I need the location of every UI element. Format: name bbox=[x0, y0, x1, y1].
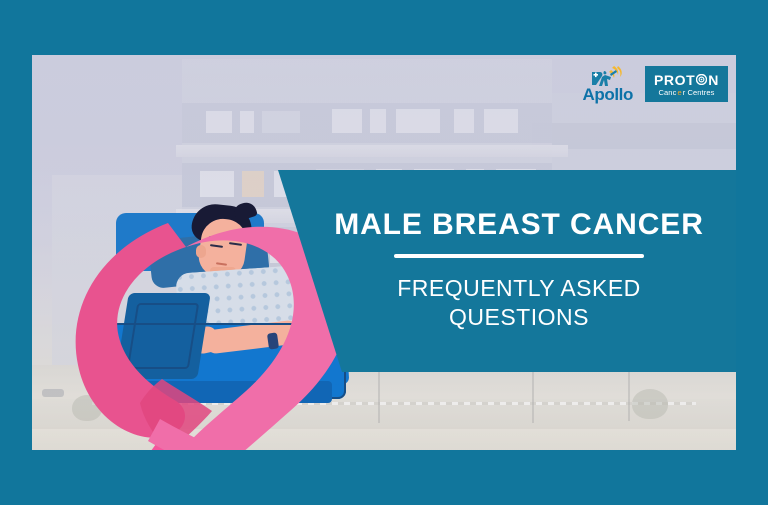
ear bbox=[196, 245, 206, 258]
content-panel-text: MALE BREAST CANCER FREQUENTLY ASKED QUES… bbox=[246, 170, 736, 372]
proton-subtitle: Cancer Centres bbox=[659, 89, 715, 97]
proton-word-prot: PROT bbox=[654, 73, 695, 87]
logo-group: Apollo PROT N Cancer Centres bbox=[579, 63, 729, 105]
title-divider bbox=[394, 254, 644, 258]
proton-target-o-icon bbox=[696, 74, 707, 85]
banner-image: MALE BREAST CANCER FREQUENTLY ASKED QUES… bbox=[32, 55, 736, 450]
proton-sub-b: r Centres bbox=[683, 89, 715, 97]
subtitle-line-2: QUESTIONS bbox=[397, 303, 641, 332]
subtitle-line-1: FREQUENTLY ASKED bbox=[397, 274, 641, 303]
proton-sub-accent: e bbox=[677, 89, 681, 97]
page-title: MALE BREAST CANCER bbox=[334, 210, 704, 240]
proton-logo[interactable]: PROT N Cancer Centres bbox=[645, 66, 728, 103]
poster-root: MALE BREAST CANCER FREQUENTLY ASKED QUES… bbox=[0, 0, 768, 505]
page-subtitle: FREQUENTLY ASKED QUESTIONS bbox=[397, 274, 641, 333]
apollo-wordmark: Apollo bbox=[583, 86, 633, 103]
bed-base bbox=[132, 381, 332, 403]
apollo-logo[interactable]: Apollo bbox=[579, 63, 637, 105]
proton-wordmark: PROT N bbox=[654, 73, 719, 87]
proton-sub-a: Canc bbox=[659, 89, 677, 97]
proton-word-n: N bbox=[708, 73, 719, 87]
